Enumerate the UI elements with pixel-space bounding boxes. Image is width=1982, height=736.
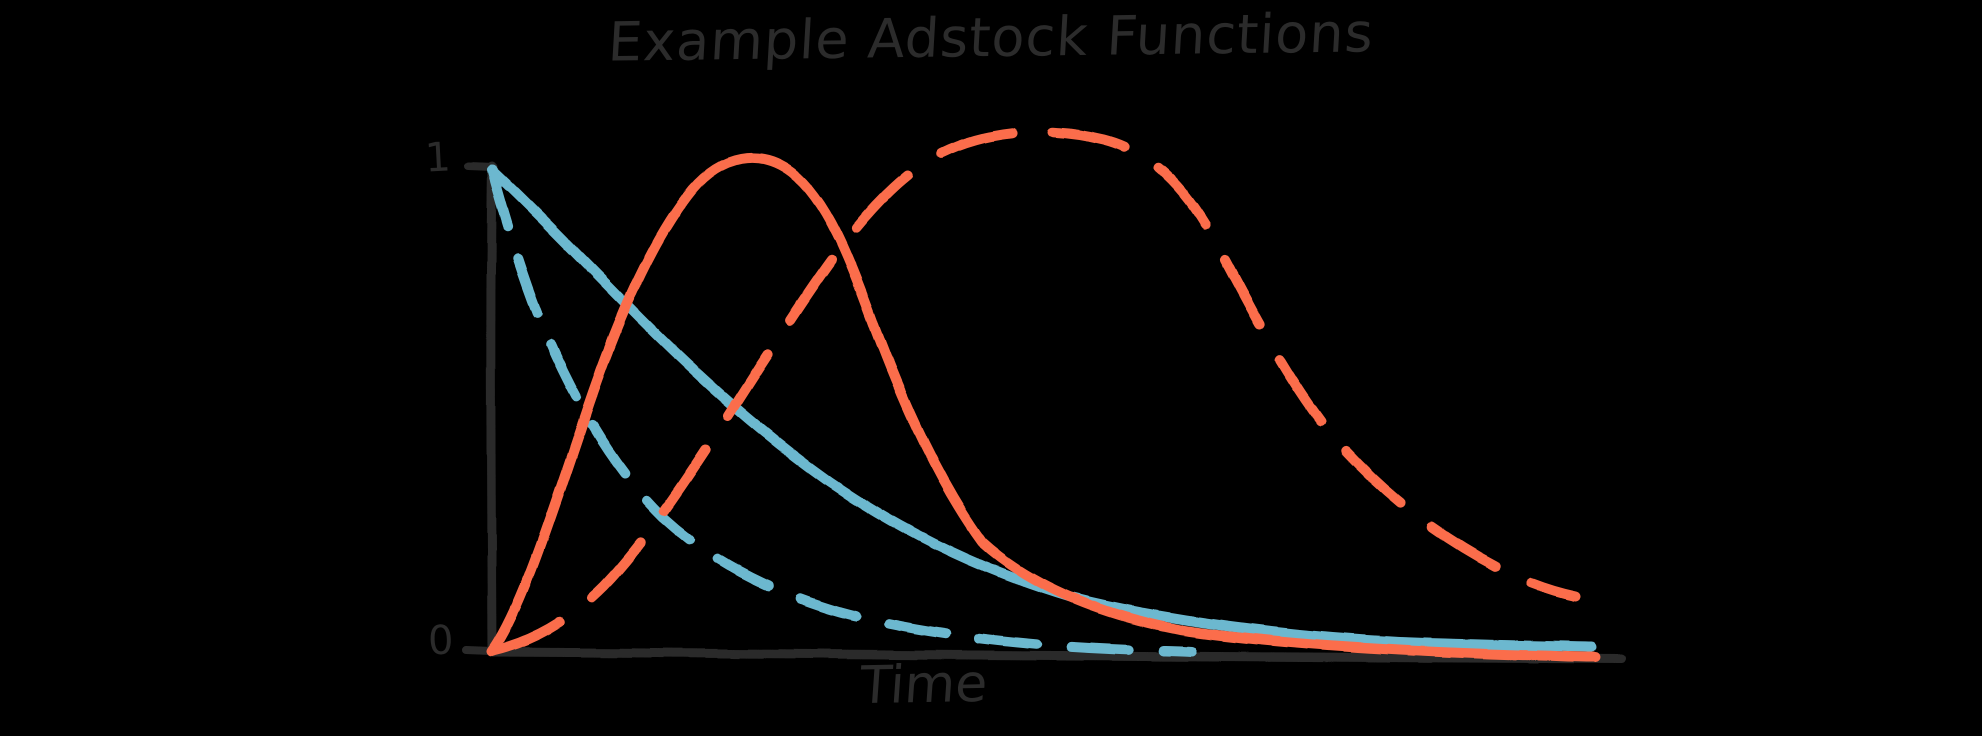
- adstock-plot: [0, 0, 1982, 736]
- y-axis-tick-label-bottom: 0: [427, 618, 454, 665]
- figure-canvas: Example Adstock Functions 1 0 Time: [0, 0, 1982, 736]
- y-axis-tick-label-top: 1: [424, 134, 452, 181]
- series-lines: [492, 132, 1596, 657]
- series-line-delayed-short: [492, 158, 1596, 657]
- x-axis-label: Time: [858, 654, 990, 716]
- y-axis-spine: [491, 166, 492, 651]
- series-line-delayed-long: [492, 132, 1576, 651]
